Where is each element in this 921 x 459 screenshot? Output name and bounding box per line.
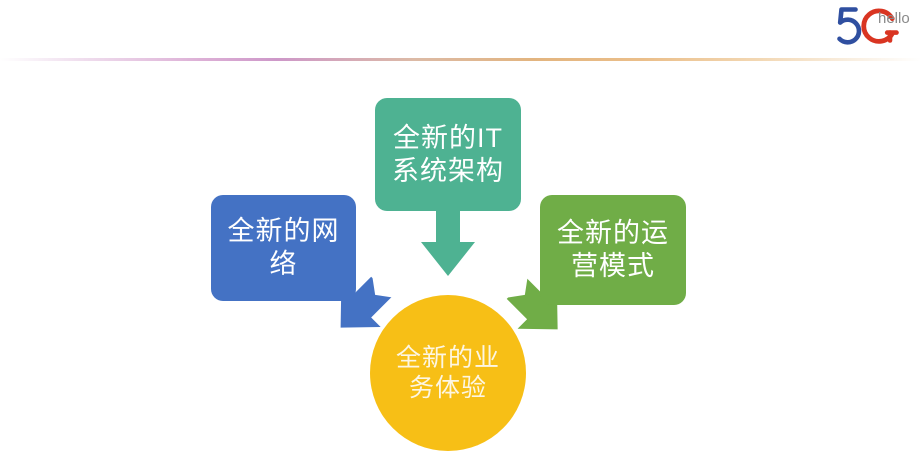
arrow-it-to-experience [418,208,478,280]
diagram-canvas: 全新的网络 全新的IT系统架构 全新的运营模式 全新的业务体验 [0,58,921,459]
5g-hello-logo: hello [829,2,915,46]
node-business-experience: 全新的业务体验 [370,295,526,451]
page-header: hello [0,0,921,58]
node-operating-model: 全新的运营模式 [540,195,686,305]
logo-digit-5 [840,10,859,43]
logo-wordmark: hello [878,10,910,27]
node-it-architecture: 全新的IT系统架构 [375,98,521,211]
node-network: 全新的网络 [211,195,356,301]
